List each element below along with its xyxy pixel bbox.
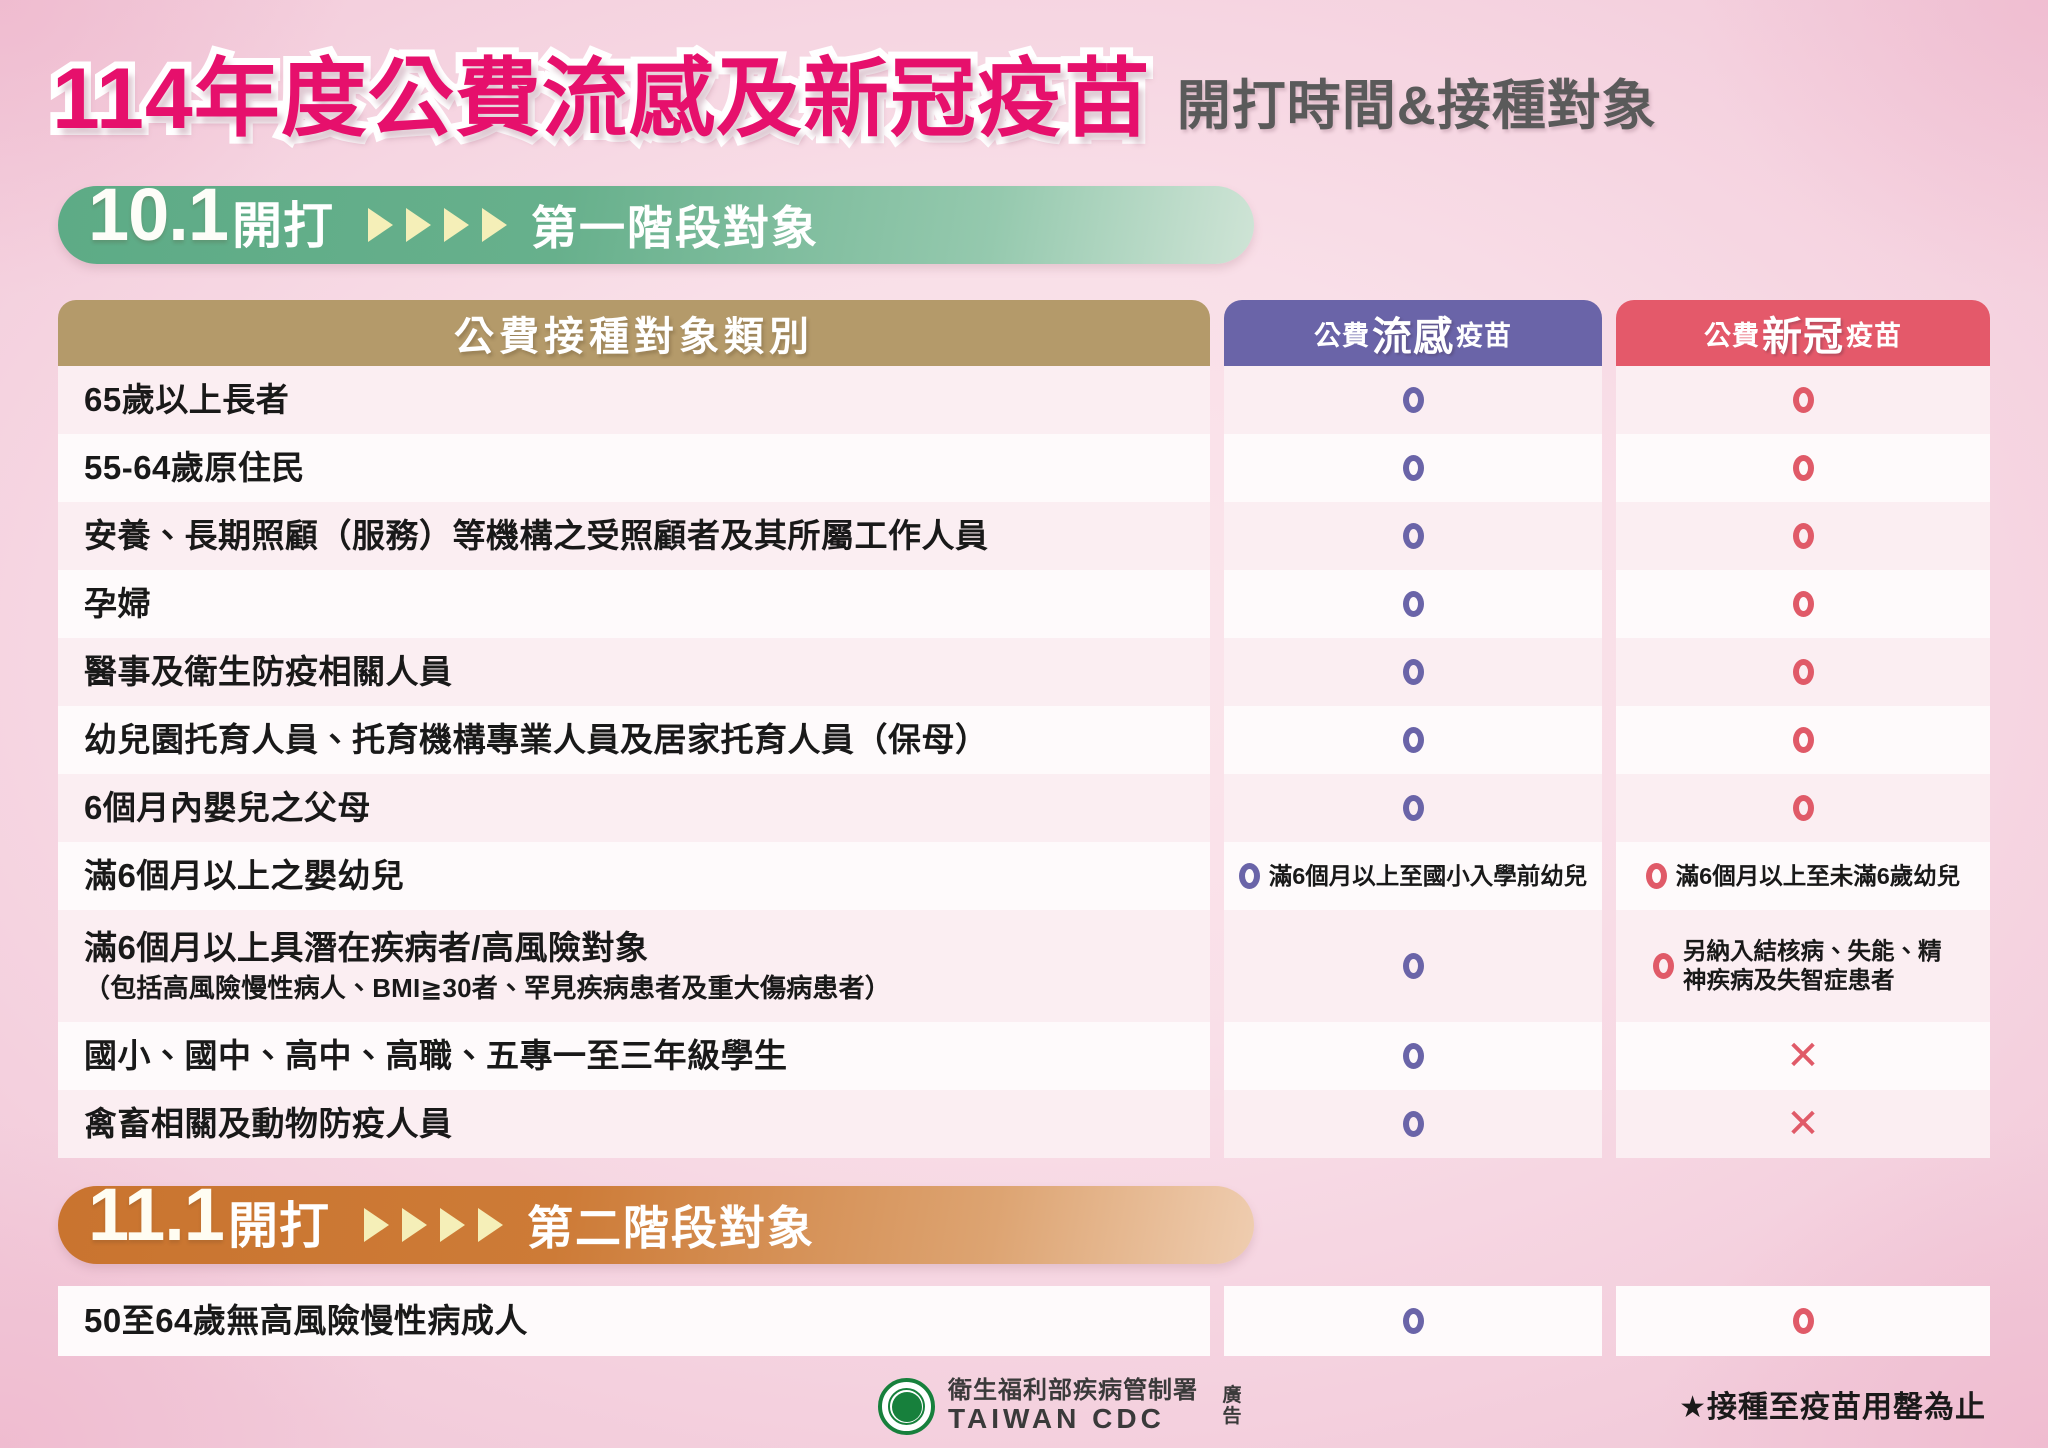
row-category-label: 禽畜相關及動物防疫人員 — [84, 1103, 1210, 1144]
table-body-phase-1: 65歲以上長者55-64歲原住民安養、長期照顧（服務）等機構之受照顧者及其所屬工… — [58, 366, 1990, 1158]
cdc-logo-block: 衛生福利部疾病管制署 TAIWAN CDC 廣告 — [878, 1378, 1243, 1435]
row-category-cell: 滿6個月以上具潛在疾病者/高風險對象（包括高風險慢性病人、BMI≧30者、罕見疾… — [58, 910, 1210, 1022]
circle-icon — [1403, 727, 1424, 753]
circle-icon — [1793, 591, 1814, 617]
table-row[interactable]: 55-64歲原住民 — [58, 434, 1990, 502]
row-category-cell: 孕婦 — [58, 570, 1210, 638]
triangle-right-icon — [402, 1208, 427, 1242]
circle-icon — [1403, 795, 1424, 821]
triangle-right-icon — [440, 1208, 465, 1242]
taiwan-cdc-seal-icon — [878, 1378, 935, 1435]
phase-1-label: 第一階段對象 — [531, 192, 819, 258]
triangle-right-icon — [444, 208, 469, 242]
row-category-cell: 滿6個月以上之嬰幼兒 — [58, 842, 1210, 910]
covid-header-name: 新冠 — [1762, 304, 1844, 362]
circle-icon — [1793, 1308, 1814, 1334]
circle-icon — [1403, 953, 1424, 979]
circle-icon — [1403, 387, 1424, 413]
circle-icon — [1403, 659, 1424, 685]
circle-icon — [1646, 863, 1667, 889]
row-category-label: 滿6個月以上具潛在疾病者/高風險對象 — [84, 927, 1210, 968]
circle-icon — [1793, 455, 1814, 481]
row-covid-cell — [1616, 1286, 1990, 1356]
footer-disclaimer: ★接種至疫苗用罄為止 — [1679, 1382, 1986, 1426]
row-category-label: 65歲以上長者 — [84, 379, 1210, 420]
mark-note-text: 另納入結核病、失能、精神疾病及失智症患者 — [1683, 937, 1953, 994]
cross-icon: ✕ — [1786, 1036, 1820, 1076]
row-category-cell: 55-64歲原住民 — [58, 434, 1210, 502]
row-category-label: 6個月內嬰兒之父母 — [84, 787, 1210, 828]
page-title: 114年度公費流感及新冠疫苗 — [52, 56, 1151, 142]
circle-icon — [1403, 523, 1424, 549]
table-row[interactable]: 50至64歲無高風險慢性病成人 — [58, 1286, 1990, 1356]
circle-icon — [1793, 523, 1814, 549]
mark-with-note: 另納入結核病、失能、精神疾病及失智症患者 — [1645, 937, 1961, 994]
poster-title-block: 114年度公費流感及新冠疫苗 開打時間&接種對象 — [52, 26, 2012, 142]
phase-1-date: 10.1 — [88, 178, 228, 252]
triangle-right-icon — [364, 1208, 389, 1242]
row-category-cell: 安養、長期照顧（服務）等機構之受照顧者及其所屬工作人員 — [58, 502, 1210, 570]
circle-icon — [1403, 1308, 1424, 1334]
phase-2-date: 11.1 — [88, 1178, 224, 1252]
table-body-phase-2: 50至64歲無高風險慢性病成人 — [58, 1286, 1990, 1356]
row-category-label: 孕婦 — [84, 583, 1210, 624]
row-covid-cell — [1616, 706, 1990, 774]
circle-icon — [1403, 1043, 1424, 1069]
mark-note-text: 滿6個月以上至未滿6歲幼兒 — [1676, 862, 1961, 891]
row-category-label: 醫事及衛生防疫相關人員 — [84, 651, 1210, 692]
circle-icon — [1793, 659, 1814, 685]
column-header-category: 公費接種對象類別 — [58, 300, 1210, 366]
row-category-cell: 6個月內嬰兒之父母 — [58, 774, 1210, 842]
flu-header-prefix: 公費 — [1314, 314, 1370, 353]
triangle-right-icon — [482, 208, 507, 242]
mark-note-text: 滿6個月以上至國小入學前幼兒 — [1269, 862, 1588, 891]
mark-with-note: 滿6個月以上至未滿6歲幼兒 — [1638, 862, 1969, 891]
arrow-group-2 — [364, 1208, 503, 1242]
cross-icon: ✕ — [1786, 1104, 1820, 1144]
row-flu-cell — [1224, 366, 1602, 434]
flu-header-suffix: 疫苗 — [1456, 314, 1512, 353]
row-category-note: （包括高風險慢性病人、BMI≧30者、罕見疾病患者及重大傷病患者） — [84, 972, 1210, 1005]
agency-name-en: TAIWAN CDC — [948, 1404, 1198, 1434]
triangle-right-icon — [368, 208, 393, 242]
row-covid-cell — [1616, 434, 1990, 502]
row-covid-cell — [1616, 774, 1990, 842]
triangle-right-icon — [406, 208, 431, 242]
phase-1-start-label: 開打 — [232, 186, 334, 258]
row-category-cell: 50至64歲無高風險慢性病成人 — [58, 1286, 1210, 1356]
table-row[interactable]: 安養、長期照顧（服務）等機構之受照顧者及其所屬工作人員 — [58, 502, 1990, 570]
row-flu-cell — [1224, 434, 1602, 502]
column-header-flu: 公費 流感 疫苗 — [1224, 300, 1602, 366]
circle-icon — [1403, 1111, 1424, 1137]
row-covid-cell — [1616, 502, 1990, 570]
covid-header-suffix: 疫苗 — [1846, 314, 1902, 353]
table-row[interactable]: 滿6個月以上具潛在疾病者/高風險對象（包括高風險慢性病人、BMI≧30者、罕見疾… — [58, 910, 1990, 1022]
row-flu-cell — [1224, 1286, 1602, 1356]
row-flu-cell: 滿6個月以上至國小入學前幼兒 — [1224, 842, 1602, 910]
page-subtitle: 開打時間&接種對象 — [1177, 78, 1657, 142]
table-row[interactable]: 國小、國中、高中、高職、五專一至三年級學生✕ — [58, 1022, 1990, 1090]
triangle-right-icon — [478, 1208, 503, 1242]
agency-name-zh: 衛生福利部疾病管制署 — [948, 1378, 1198, 1404]
row-category-label: 50至64歲無高風險慢性病成人 — [84, 1300, 1210, 1341]
phase-banner-1: 10.1 開打 第一階段對象 — [58, 186, 1254, 264]
circle-icon — [1793, 727, 1814, 753]
row-category-cell: 65歲以上長者 — [58, 366, 1210, 434]
row-flu-cell — [1224, 1090, 1602, 1158]
row-covid-cell: 另納入結核病、失能、精神疾病及失智症患者 — [1616, 910, 1990, 1022]
row-flu-cell — [1224, 502, 1602, 570]
circle-icon — [1653, 953, 1674, 979]
row-flu-cell — [1224, 570, 1602, 638]
row-covid-cell — [1616, 366, 1990, 434]
row-flu-cell — [1224, 638, 1602, 706]
row-category-cell: 禽畜相關及動物防疫人員 — [58, 1090, 1210, 1158]
flu-header-name: 流感 — [1372, 304, 1454, 362]
row-category-label: 安養、長期照顧（服務）等機構之受照顧者及其所屬工作人員 — [84, 515, 1210, 556]
row-flu-cell — [1224, 910, 1602, 1022]
table-row[interactable]: 幼兒園托育人員、托育機構專業人員及居家托育人員（保母） — [58, 706, 1990, 774]
row-category-cell: 國小、國中、高中、高職、五專一至三年級學生 — [58, 1022, 1210, 1090]
row-covid-cell: ✕ — [1616, 1022, 1990, 1090]
circle-icon — [1793, 795, 1814, 821]
covid-header-prefix: 公費 — [1704, 314, 1760, 353]
row-covid-cell: 滿6個月以上至未滿6歲幼兒 — [1616, 842, 1990, 910]
row-category-label: 幼兒園托育人員、托育機構專業人員及居家托育人員（保母） — [84, 719, 1210, 760]
table-row[interactable]: 滿6個月以上之嬰幼兒滿6個月以上至國小入學前幼兒滿6個月以上至未滿6歲幼兒 — [58, 842, 1990, 910]
table-row[interactable]: 孕婦 — [58, 570, 1990, 638]
row-flu-cell — [1224, 706, 1602, 774]
arrow-group-1 — [368, 208, 507, 242]
column-header-category-label: 公費接種對象類別 — [454, 304, 814, 362]
row-covid-cell — [1616, 570, 1990, 638]
table-row[interactable]: 禽畜相關及動物防疫人員✕ — [58, 1090, 1990, 1158]
row-category-label: 國小、國中、高中、高職、五專一至三年級學生 — [84, 1035, 1210, 1076]
circle-icon — [1403, 591, 1424, 617]
column-header-covid: 公費 新冠 疫苗 — [1616, 300, 1990, 366]
row-category-label: 滿6個月以上之嬰幼兒 — [84, 855, 1210, 896]
phase-2-start-label: 開打 — [228, 1186, 330, 1258]
phase-2-label: 第二階段對象 — [527, 1192, 815, 1258]
row-category-cell: 幼兒園托育人員、托育機構專業人員及居家托育人員（保母） — [58, 706, 1210, 774]
table-header-row: 公費接種對象類別 公費 流感 疫苗 公費 新冠 疫苗 — [58, 300, 1990, 366]
circle-icon — [1793, 387, 1814, 413]
row-category-cell: 醫事及衛生防疫相關人員 — [58, 638, 1210, 706]
table-row[interactable]: 6個月內嬰兒之父母 — [58, 774, 1990, 842]
row-covid-cell — [1616, 638, 1990, 706]
circle-icon — [1403, 455, 1424, 481]
row-flu-cell — [1224, 774, 1602, 842]
row-category-label: 55-64歲原住民 — [84, 447, 1210, 488]
poster-root: 114年度公費流感及新冠疫苗 開打時間&接種對象 10.1 開打 第一階段對象 … — [0, 0, 2048, 1448]
table-row[interactable]: 醫事及衛生防疫相關人員 — [58, 638, 1990, 706]
advertisement-mark: 廣告 — [1221, 1386, 1243, 1428]
circle-icon — [1239, 863, 1260, 889]
row-covid-cell: ✕ — [1616, 1090, 1990, 1158]
row-flu-cell — [1224, 1022, 1602, 1090]
mark-with-note: 滿6個月以上至國小入學前幼兒 — [1231, 862, 1596, 891]
phase-banner-2: 11.1 開打 第二階段對象 — [58, 1186, 1254, 1264]
table-row[interactable]: 65歲以上長者 — [58, 366, 1990, 434]
